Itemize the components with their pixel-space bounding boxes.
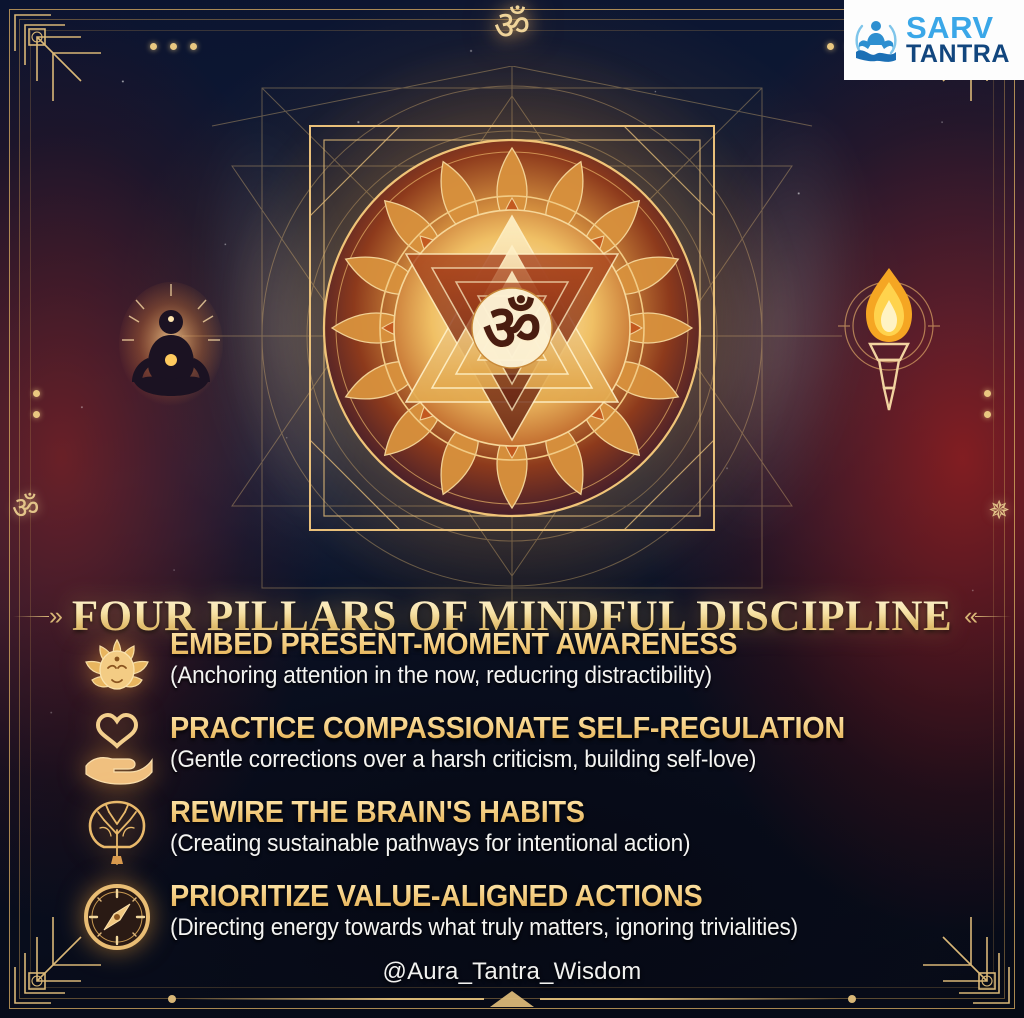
title-arrow-left-icon: » bbox=[13, 602, 60, 631]
om-symbol-left-icon: ॐ bbox=[12, 486, 39, 527]
list-item: PRIORITIZE VALUE-ALIGNED ACTIONS (Direct… bbox=[78, 880, 966, 956]
meditating-figure-logo-icon bbox=[850, 14, 902, 66]
flaming-torch-icon bbox=[836, 262, 942, 414]
pillar-heading: PRIORITIZE VALUE-ALIGNED ACTIONS bbox=[170, 880, 910, 913]
list-item: EMBED PRESENT-MOMENT AWARENESS (Anchorin… bbox=[78, 628, 966, 704]
ornament-line-left bbox=[184, 998, 484, 1000]
star-ornament-right-icon: ✵ bbox=[988, 495, 1010, 526]
meditating-figure-icon bbox=[112, 278, 230, 418]
lotus-face-icon bbox=[78, 626, 156, 704]
ornament-line-right bbox=[540, 998, 840, 1000]
social-handle: @Aura_Tantra_Wisdom bbox=[0, 958, 1024, 986]
pillar-subtext: (Directing energy towards what truly mat… bbox=[170, 915, 918, 942]
ornament-dot bbox=[168, 995, 176, 1003]
pillar-subtext: (Creating sustainable pathways for inten… bbox=[170, 831, 918, 858]
bead-dot bbox=[984, 390, 991, 397]
title-arrow-right-icon: « bbox=[964, 602, 1011, 631]
compass-icon bbox=[78, 878, 156, 956]
bead-row-left bbox=[33, 390, 40, 418]
ornament-diamond-icon bbox=[490, 991, 534, 1007]
pillar-heading: REWIRE THE BRAIN'S HABITS bbox=[170, 796, 910, 829]
ornament-dot bbox=[848, 995, 856, 1003]
logo-text-tantra: TANTRA bbox=[906, 43, 1010, 66]
pillar-heading: EMBED PRESENT-MOMENT AWARENESS bbox=[170, 628, 910, 661]
bead-dot bbox=[984, 411, 991, 418]
poster-canvas: ॐ ॐ ✵ bbox=[0, 0, 1024, 1018]
hand-holding-heart-icon bbox=[78, 710, 156, 788]
pillars-list: EMBED PRESENT-MOMENT AWARENESS (Anchorin… bbox=[78, 628, 966, 964]
bead-row-right bbox=[984, 390, 991, 418]
logo-text-sarv: SARV bbox=[906, 14, 1010, 43]
om-symbol-center-icon: ॐ bbox=[483, 296, 541, 360]
brand-logo[interactable]: SARV TANTRA bbox=[844, 0, 1024, 80]
pillar-subtext: (Anchoring attention in the now, reducri… bbox=[170, 663, 918, 690]
list-item: PRACTICE COMPASSIONATE SELF-REGULATION (… bbox=[78, 712, 966, 788]
bead-dot bbox=[33, 411, 40, 418]
list-item: REWIRE THE BRAIN'S HABITS (Creating sust… bbox=[78, 796, 966, 872]
bottom-ornament bbox=[0, 986, 1024, 1012]
brain-tree-icon bbox=[78, 794, 156, 872]
pillar-heading: PRACTICE COMPASSIONATE SELF-REGULATION bbox=[170, 712, 910, 745]
pillar-subtext: (Gentle corrections over a harsh critici… bbox=[170, 747, 918, 774]
bead-dot bbox=[33, 390, 40, 397]
